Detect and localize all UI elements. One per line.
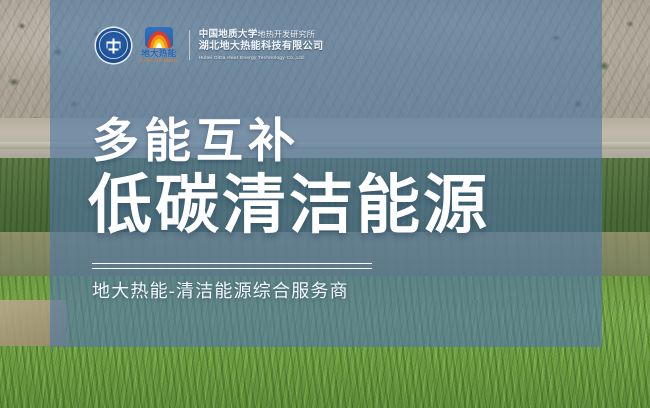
organization-text-block: 中国地质大学地热开发研究所 湖北地大热能科技有限公司 Hubei DiDa He… bbox=[199, 29, 324, 61]
headline-rule bbox=[92, 263, 372, 269]
company-name-en: Hubei DiDa Heat Energy Technology Co.,Lt… bbox=[199, 54, 324, 61]
institute-prefix: 中国地质大学 bbox=[199, 29, 258, 40]
tagline: 地大热能-清洁能源综合服务商 bbox=[92, 279, 349, 303]
seal-glyph bbox=[105, 38, 122, 53]
logo-mark-pinyin: DI DA RE NENG bbox=[140, 59, 178, 63]
banner-stage: 地大热能 DI DA RE NENG 中国地质大学地热开发研究所 湖北地大热能科… bbox=[0, 0, 650, 408]
institute-suffix: 地热开发研究所 bbox=[258, 30, 315, 39]
logo-lockup: 地大热能 DI DA RE NENG 中国地质大学地热开发研究所 湖北地大热能科… bbox=[96, 22, 324, 68]
company-logo-mark: 地大热能 DI DA RE NENG bbox=[140, 27, 178, 63]
headline-main: 低碳清洁能源 bbox=[88, 170, 490, 240]
company-name-cn: 湖北地大热能科技有限公司 bbox=[199, 41, 324, 53]
institute-line: 中国地质大学地热开发研究所 bbox=[199, 29, 324, 40]
headline-top: 多能互补 bbox=[92, 116, 300, 166]
rainbow-icon bbox=[145, 27, 173, 48]
university-seal-icon bbox=[96, 28, 131, 63]
logo-divider bbox=[189, 30, 190, 60]
logo-mark-cn-text: 地大热能 bbox=[140, 49, 178, 58]
